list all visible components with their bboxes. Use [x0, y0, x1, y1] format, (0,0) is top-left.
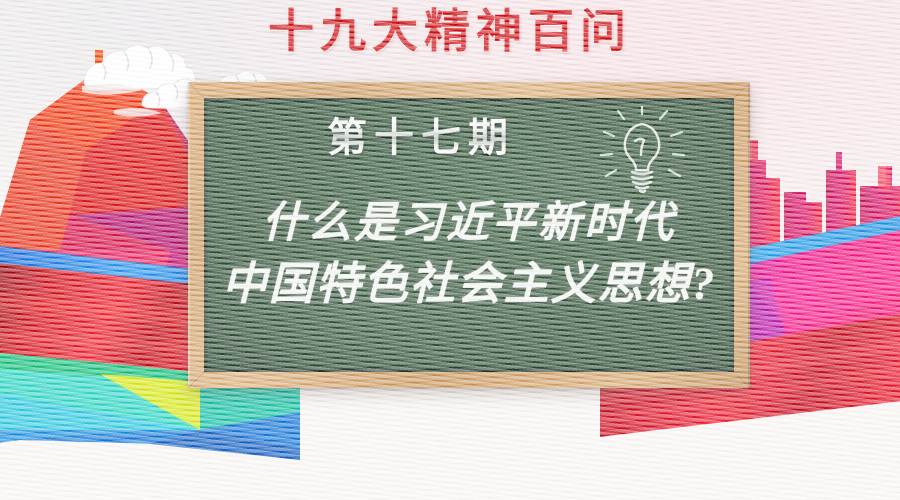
- blackboard-surface: 第十七期: [204, 98, 734, 372]
- page-title: 十九大精神百问: [0, 2, 900, 64]
- question-line-1: 什么是习近平新时代: [204, 194, 734, 254]
- question-line-2: 中国特色社会主义思想?: [204, 254, 734, 314]
- lightbulb-icon: [594, 106, 690, 198]
- question-text: 什么是习近平新时代 中国特色社会主义思想?: [204, 194, 734, 314]
- blackboard: 第十七期: [188, 82, 750, 388]
- poster-canvas: 第十七期: [0, 0, 900, 500]
